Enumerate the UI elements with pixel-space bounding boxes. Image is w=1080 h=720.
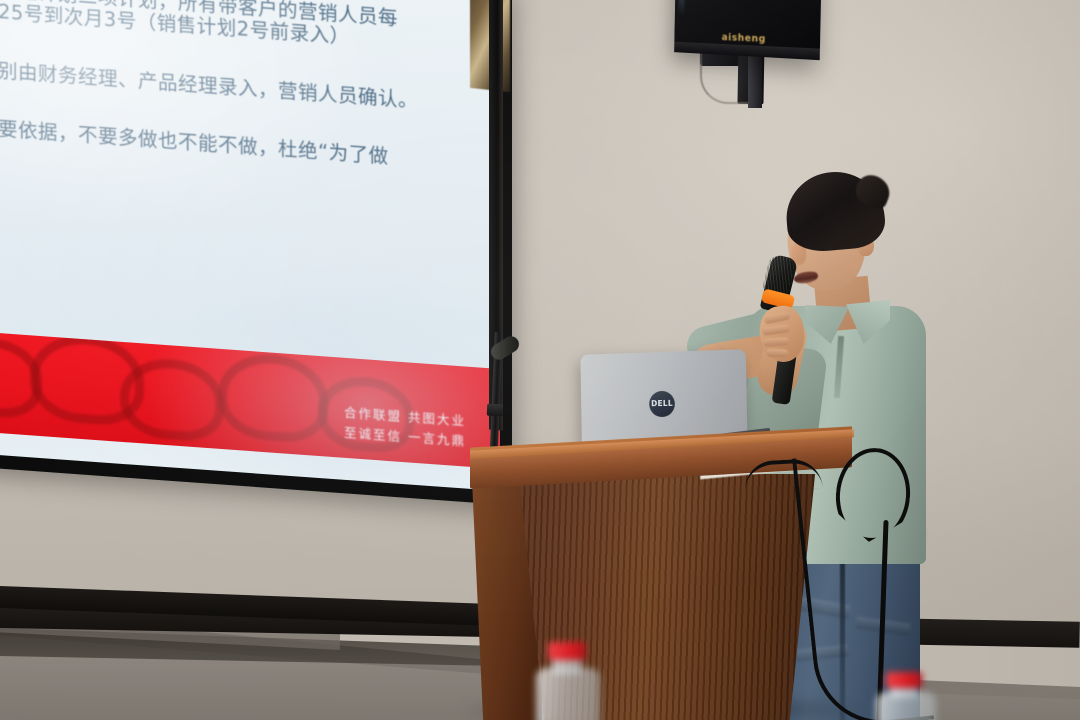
finger (766, 349, 788, 358)
bottle-cap (548, 642, 586, 660)
dell-logo-icon: DELL (649, 391, 675, 417)
photo-scene: 划、推进计划三项计划，所有带客户的营销人员每 月底25号到次月3号（销售计划2号… (0, 0, 1080, 720)
bottle-cap (886, 672, 922, 688)
bottle-body (536, 668, 600, 720)
